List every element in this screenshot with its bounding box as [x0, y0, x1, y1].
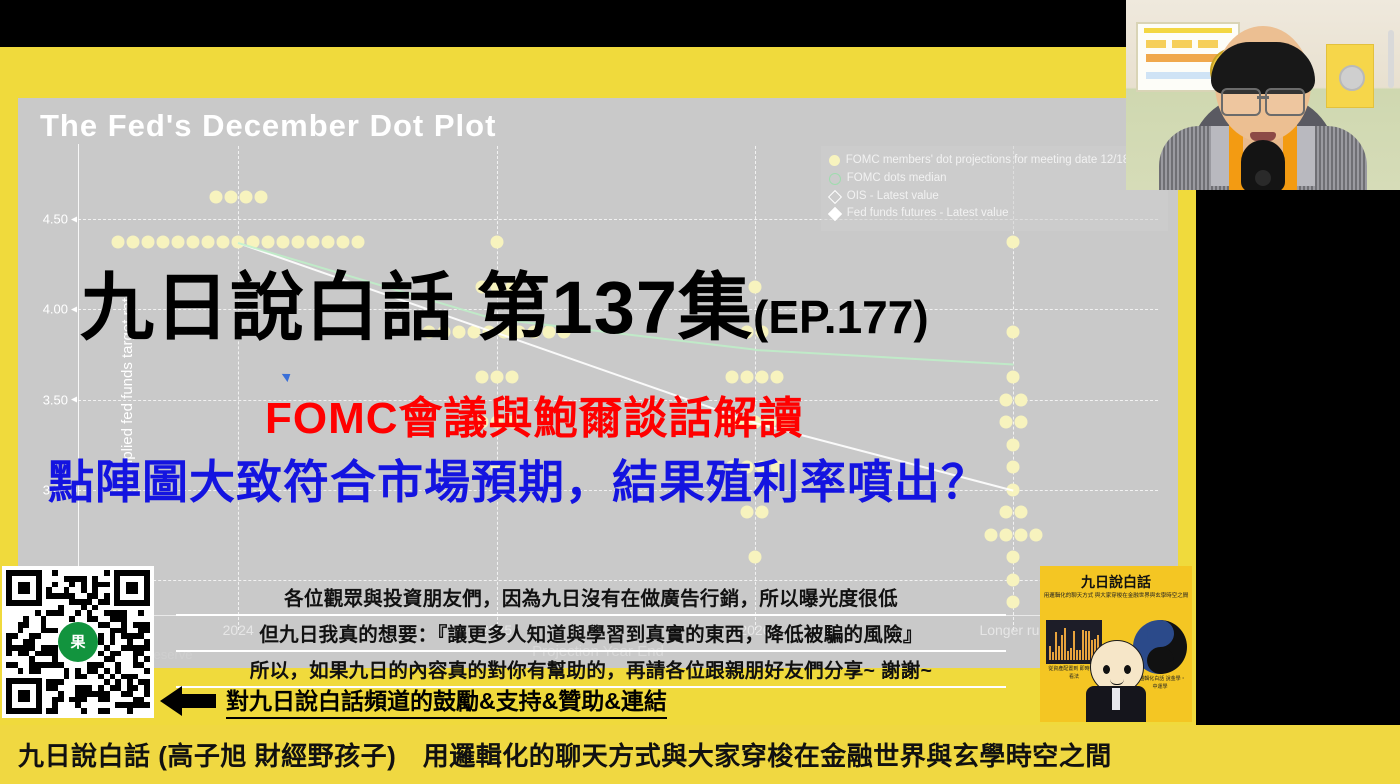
qr-module [138, 610, 144, 616]
qr-module [92, 605, 98, 611]
qr-module [58, 679, 64, 685]
dot-marker-icon [829, 155, 840, 166]
promo-line-2: 但九日我真的想要：『讓更多人知道與學習到真實的東西，降低被騙的風險』 [176, 616, 1006, 652]
qr-module [104, 570, 110, 576]
qr-module [23, 622, 29, 628]
qr-module [144, 668, 150, 674]
headline-blue: 點陣圖大致符合市場預期，結果殖利率噴出？ [48, 446, 988, 512]
dot-projection-marker [127, 235, 140, 248]
dot-projection-marker [352, 235, 365, 248]
candlestick-bar [1055, 632, 1057, 660]
dot-projection-marker [277, 235, 290, 248]
legend-item-dots: FOMC members' dot projections for meetin… [829, 152, 1158, 170]
person-face [1215, 26, 1311, 142]
dot-projection-marker [202, 235, 215, 248]
candlestick-bar [1064, 628, 1066, 660]
qr-module [81, 708, 87, 714]
dot-projection-marker [999, 393, 1012, 406]
dot-projection-marker [307, 235, 320, 248]
stream-screen: The Fed's December Dot Plot Implied fed … [0, 0, 1400, 784]
dot-projection-marker [337, 235, 350, 248]
y-axis-line [78, 144, 79, 630]
qr-module [6, 651, 12, 657]
qr-module [69, 582, 75, 588]
black-right-panel [1196, 190, 1400, 725]
qr-finder-topright [114, 570, 150, 606]
candlestick-bar [1079, 650, 1081, 660]
channel-logo-card: 九日說白話 用邏輯化的聊天方式 與大家穿梭在金融世界與玄學時空之間 從資產配置到… [1040, 566, 1192, 722]
qr-module [133, 685, 139, 691]
candlestick-bar [1058, 646, 1060, 660]
dot-projection-marker [1029, 528, 1042, 541]
glasses-left-lens-icon [1221, 88, 1261, 116]
candlestick-bar [1061, 635, 1063, 660]
y-axis-tick: 3.50 [43, 392, 68, 407]
qr-module [18, 628, 24, 634]
mascot-tie [1112, 688, 1120, 710]
whiteboard-header [1144, 28, 1232, 33]
dot-projection-marker [224, 190, 237, 203]
qr-module [104, 708, 110, 714]
promo-line-1: 各位觀眾與投資朋友們，因為九日沒有在做廣告行銷，所以曝光度很低 [176, 580, 1006, 616]
dot-projection-marker [217, 235, 230, 248]
qr-module [144, 645, 150, 651]
dot-projection-marker [172, 235, 185, 248]
qr-module [144, 628, 150, 634]
episode-code: (EP.177) [753, 291, 929, 343]
dot-projection-marker [999, 528, 1012, 541]
candlestick-bar [1049, 646, 1051, 660]
dot-projection-marker [112, 235, 125, 248]
channel-logo-subtitle: 用邏輯化的聊天方式 與大家穿梭在金融世界與玄學時空之間 [1040, 592, 1192, 600]
whiteboard-box [1198, 40, 1218, 48]
whiteboard-box [1146, 40, 1166, 48]
bottom-ticker-text: 九日說白話 (高子旭 財經野孩子) 用邏輯化的聊天方式與大家穿梭在金融世界與玄學… [0, 736, 1112, 773]
qr-module [144, 691, 150, 697]
qr-module [52, 708, 58, 714]
dot-projection-marker [187, 235, 200, 248]
qr-module [104, 582, 110, 588]
chart-legend: FOMC members' dot projections for meetin… [821, 146, 1168, 231]
dot-projection-marker [1014, 393, 1027, 406]
qr-module [127, 708, 133, 714]
dot-projection-marker [490, 235, 503, 248]
qr-center-logo: 果 [58, 622, 98, 662]
candlestick-bar [1073, 631, 1075, 660]
qr-code[interactable]: 果 [2, 566, 154, 718]
dot-projection-marker [1014, 528, 1027, 541]
arrow-left-icon [160, 686, 216, 716]
qr-module [52, 570, 58, 576]
candlestick-bar [1070, 648, 1072, 660]
dot-projection-marker [1007, 551, 1020, 564]
channel-logo-title: 九日說白話 [1040, 572, 1192, 592]
wall-hook [1388, 30, 1394, 88]
qr-module [81, 674, 87, 680]
qr-logo-text: 果 [70, 635, 85, 650]
glasses-bridge-icon [1257, 96, 1269, 99]
qr-module [104, 599, 110, 605]
qr-module [52, 628, 58, 634]
wall-poster [1326, 44, 1374, 108]
webcam-overlay [1126, 0, 1400, 190]
candlestick-bar [1076, 650, 1078, 660]
microphone-icon [1241, 140, 1285, 190]
legend-label: FOMC members' dot projections for meetin… [846, 152, 1158, 170]
mascot-eye-left [1103, 665, 1110, 674]
dot-projection-marker [984, 528, 997, 541]
support-link[interactable]: 對九日說白話頻道的鼓勵&支持&贊助&連結 [160, 682, 667, 719]
dot-projection-marker [1007, 370, 1020, 383]
dot-projection-marker [1007, 596, 1020, 609]
qr-module [18, 668, 24, 674]
candlestick-bar [1052, 652, 1054, 660]
dot-projection-marker [1014, 506, 1027, 519]
page-title: 九日說白話 第137集(EP.177) [80, 248, 929, 355]
whiteboard-band [1146, 54, 1218, 62]
dot-projection-marker [999, 506, 1012, 519]
qr-module [35, 668, 41, 674]
candlestick-bar [1085, 631, 1087, 660]
glasses-right-lens-icon [1265, 88, 1305, 116]
qr-module [64, 674, 70, 680]
promo-block: 各位觀眾與投資朋友們，因為九日沒有在做廣告行銷，所以曝光度很低 但九日我真的想要… [176, 580, 1006, 688]
dot-projection-marker [322, 235, 335, 248]
dot-projection-marker [209, 190, 222, 203]
legend-item-ois: OIS - Latest value [829, 188, 1158, 206]
whiteboard-box [1172, 40, 1192, 48]
qr-modules: 果 [6, 570, 150, 714]
qr-module [75, 610, 81, 616]
candlestick-bar [1088, 631, 1090, 660]
dot-projection-marker [292, 235, 305, 248]
mascot-mouth [1110, 679, 1124, 685]
dot-projection-marker [1007, 235, 1020, 248]
legend-label: FOMC dots median [847, 170, 947, 188]
dot-projection-marker [254, 190, 267, 203]
qr-module [110, 639, 116, 645]
qr-finder-topleft [6, 570, 42, 606]
dot-projection-marker [262, 235, 275, 248]
dot-projection-marker [142, 235, 155, 248]
legend-item-futures: Fed funds futures - Latest value [829, 205, 1158, 223]
qr-module [115, 651, 121, 657]
qr-module [81, 697, 87, 703]
qr-module [144, 656, 150, 662]
mascot-body [1086, 686, 1146, 722]
dot-projection-marker [157, 235, 170, 248]
dot-projection-marker [1007, 461, 1020, 474]
headline-red: FOMC會議與鮑爾談話解讀 [265, 382, 804, 446]
candlestick-bar [1067, 651, 1069, 660]
qr-module [104, 697, 110, 703]
qr-module [12, 633, 18, 639]
qr-module [58, 610, 64, 616]
qr-module [144, 702, 150, 708]
person-hair [1211, 42, 1315, 94]
qr-module [69, 616, 75, 622]
qr-module [52, 582, 58, 588]
dot-projection-marker [1007, 438, 1020, 451]
mascot-eye-right [1124, 665, 1131, 674]
legend-label: OIS - Latest value [847, 188, 939, 206]
diamond-open-marker-icon [828, 189, 842, 203]
support-link-label[interactable]: 對九日說白話頻道的鼓勵&支持&贊助&連結 [226, 682, 667, 719]
episode-title: 九日說白話 第137集 [80, 266, 753, 349]
ring-marker-icon [829, 173, 841, 185]
legend-item-median: FOMC dots median [829, 170, 1158, 188]
bottom-ticker-bar: 九日說白話 (高子旭 財經野孩子) 用邏輯化的聊天方式與大家穿梭在金融世界與玄學… [0, 725, 1400, 784]
dot-projection-marker [1007, 573, 1020, 586]
dot-projection-marker [999, 416, 1012, 429]
dot-projection-marker [748, 551, 761, 564]
qr-finder-bottomleft [6, 678, 42, 714]
dot-projection-marker [239, 190, 252, 203]
gridline-vertical [238, 146, 239, 630]
candlestick-bar [1082, 630, 1084, 660]
y-axis-tick: 4.00 [43, 302, 68, 317]
poster-seal [1339, 65, 1365, 91]
qr-module [58, 697, 64, 703]
chart-title: The Fed's December Dot Plot [40, 108, 496, 144]
dot-projection-marker [1014, 416, 1027, 429]
y-axis-tick: 4.50 [43, 212, 68, 227]
qr-module [35, 633, 41, 639]
diamond-solid-marker-icon [828, 207, 842, 221]
legend-label: Fed funds futures - Latest value [847, 205, 1009, 223]
whiteboard-footer [1146, 72, 1218, 79]
dot-projection-marker [1007, 325, 1020, 338]
